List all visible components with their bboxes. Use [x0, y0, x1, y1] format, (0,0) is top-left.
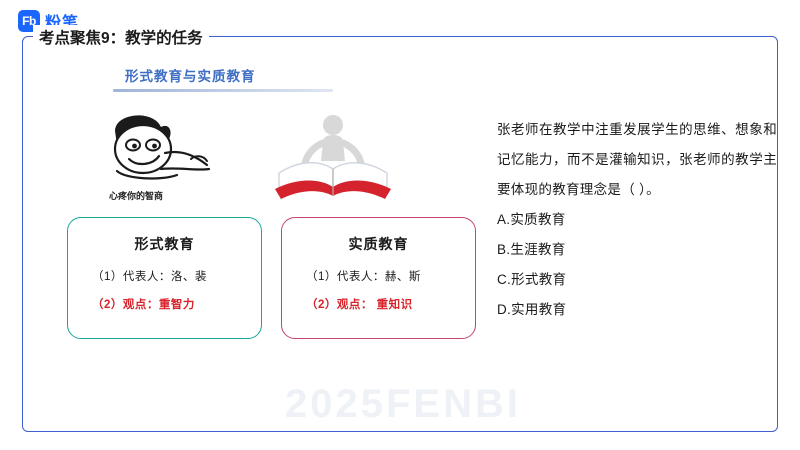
left-content-column: 形式教育与实质教育 心 — [53, 65, 483, 415]
option-a[interactable]: A.实质教育 — [497, 205, 777, 235]
section-heading: 形式教育与实质教育 — [125, 65, 256, 85]
open-book-with-figure-icon — [263, 103, 403, 205]
slide-frame: 考点聚焦9：教学的任务 2025FENBI 形式教育与实质教育 — [22, 36, 778, 432]
card-left-line-1: （1）代表人：洛、裴 — [68, 268, 261, 284]
meme-caption: 心疼你的智商 — [109, 189, 163, 202]
option-c[interactable]: C.形式教育 — [497, 265, 777, 295]
card-substantive-education: 实质教育 （1）代表人：赫、斯 （2）观点： 重知识 — [281, 217, 476, 339]
card-formal-education: 形式教育 （1）代表人：洛、裴 （2）观点：重智力 — [67, 217, 262, 339]
book-illustration — [263, 103, 403, 205]
page-title: 考点聚焦9：教学的任务 — [39, 26, 203, 48]
card-right-line-2: （2）观点： 重知识 — [282, 296, 475, 312]
card-left-line-2: （2）观点：重智力 — [68, 296, 261, 312]
question-panel: 张老师在教学中注重发展学生的思维、想象和记忆能力，而不是灌输知识，张老师的教学主… — [497, 115, 777, 325]
card-right-title: 实质教育 — [282, 234, 475, 254]
heading-underline — [113, 89, 333, 92]
option-b[interactable]: B.生涯教育 — [497, 235, 777, 265]
card-left-title: 形式教育 — [68, 234, 261, 254]
option-d[interactable]: D.实用教育 — [497, 295, 777, 325]
slide-title-container: 考点聚焦9：教学的任务 — [33, 25, 209, 49]
question-stem: 张老师在教学中注重发展学生的思维、想象和记忆能力，而不是灌输知识，张老师的教学主… — [497, 115, 777, 205]
meme-illustration: 心疼你的智商 — [91, 105, 221, 205]
card-right-line-1: （1）代表人：赫、斯 — [282, 268, 475, 284]
